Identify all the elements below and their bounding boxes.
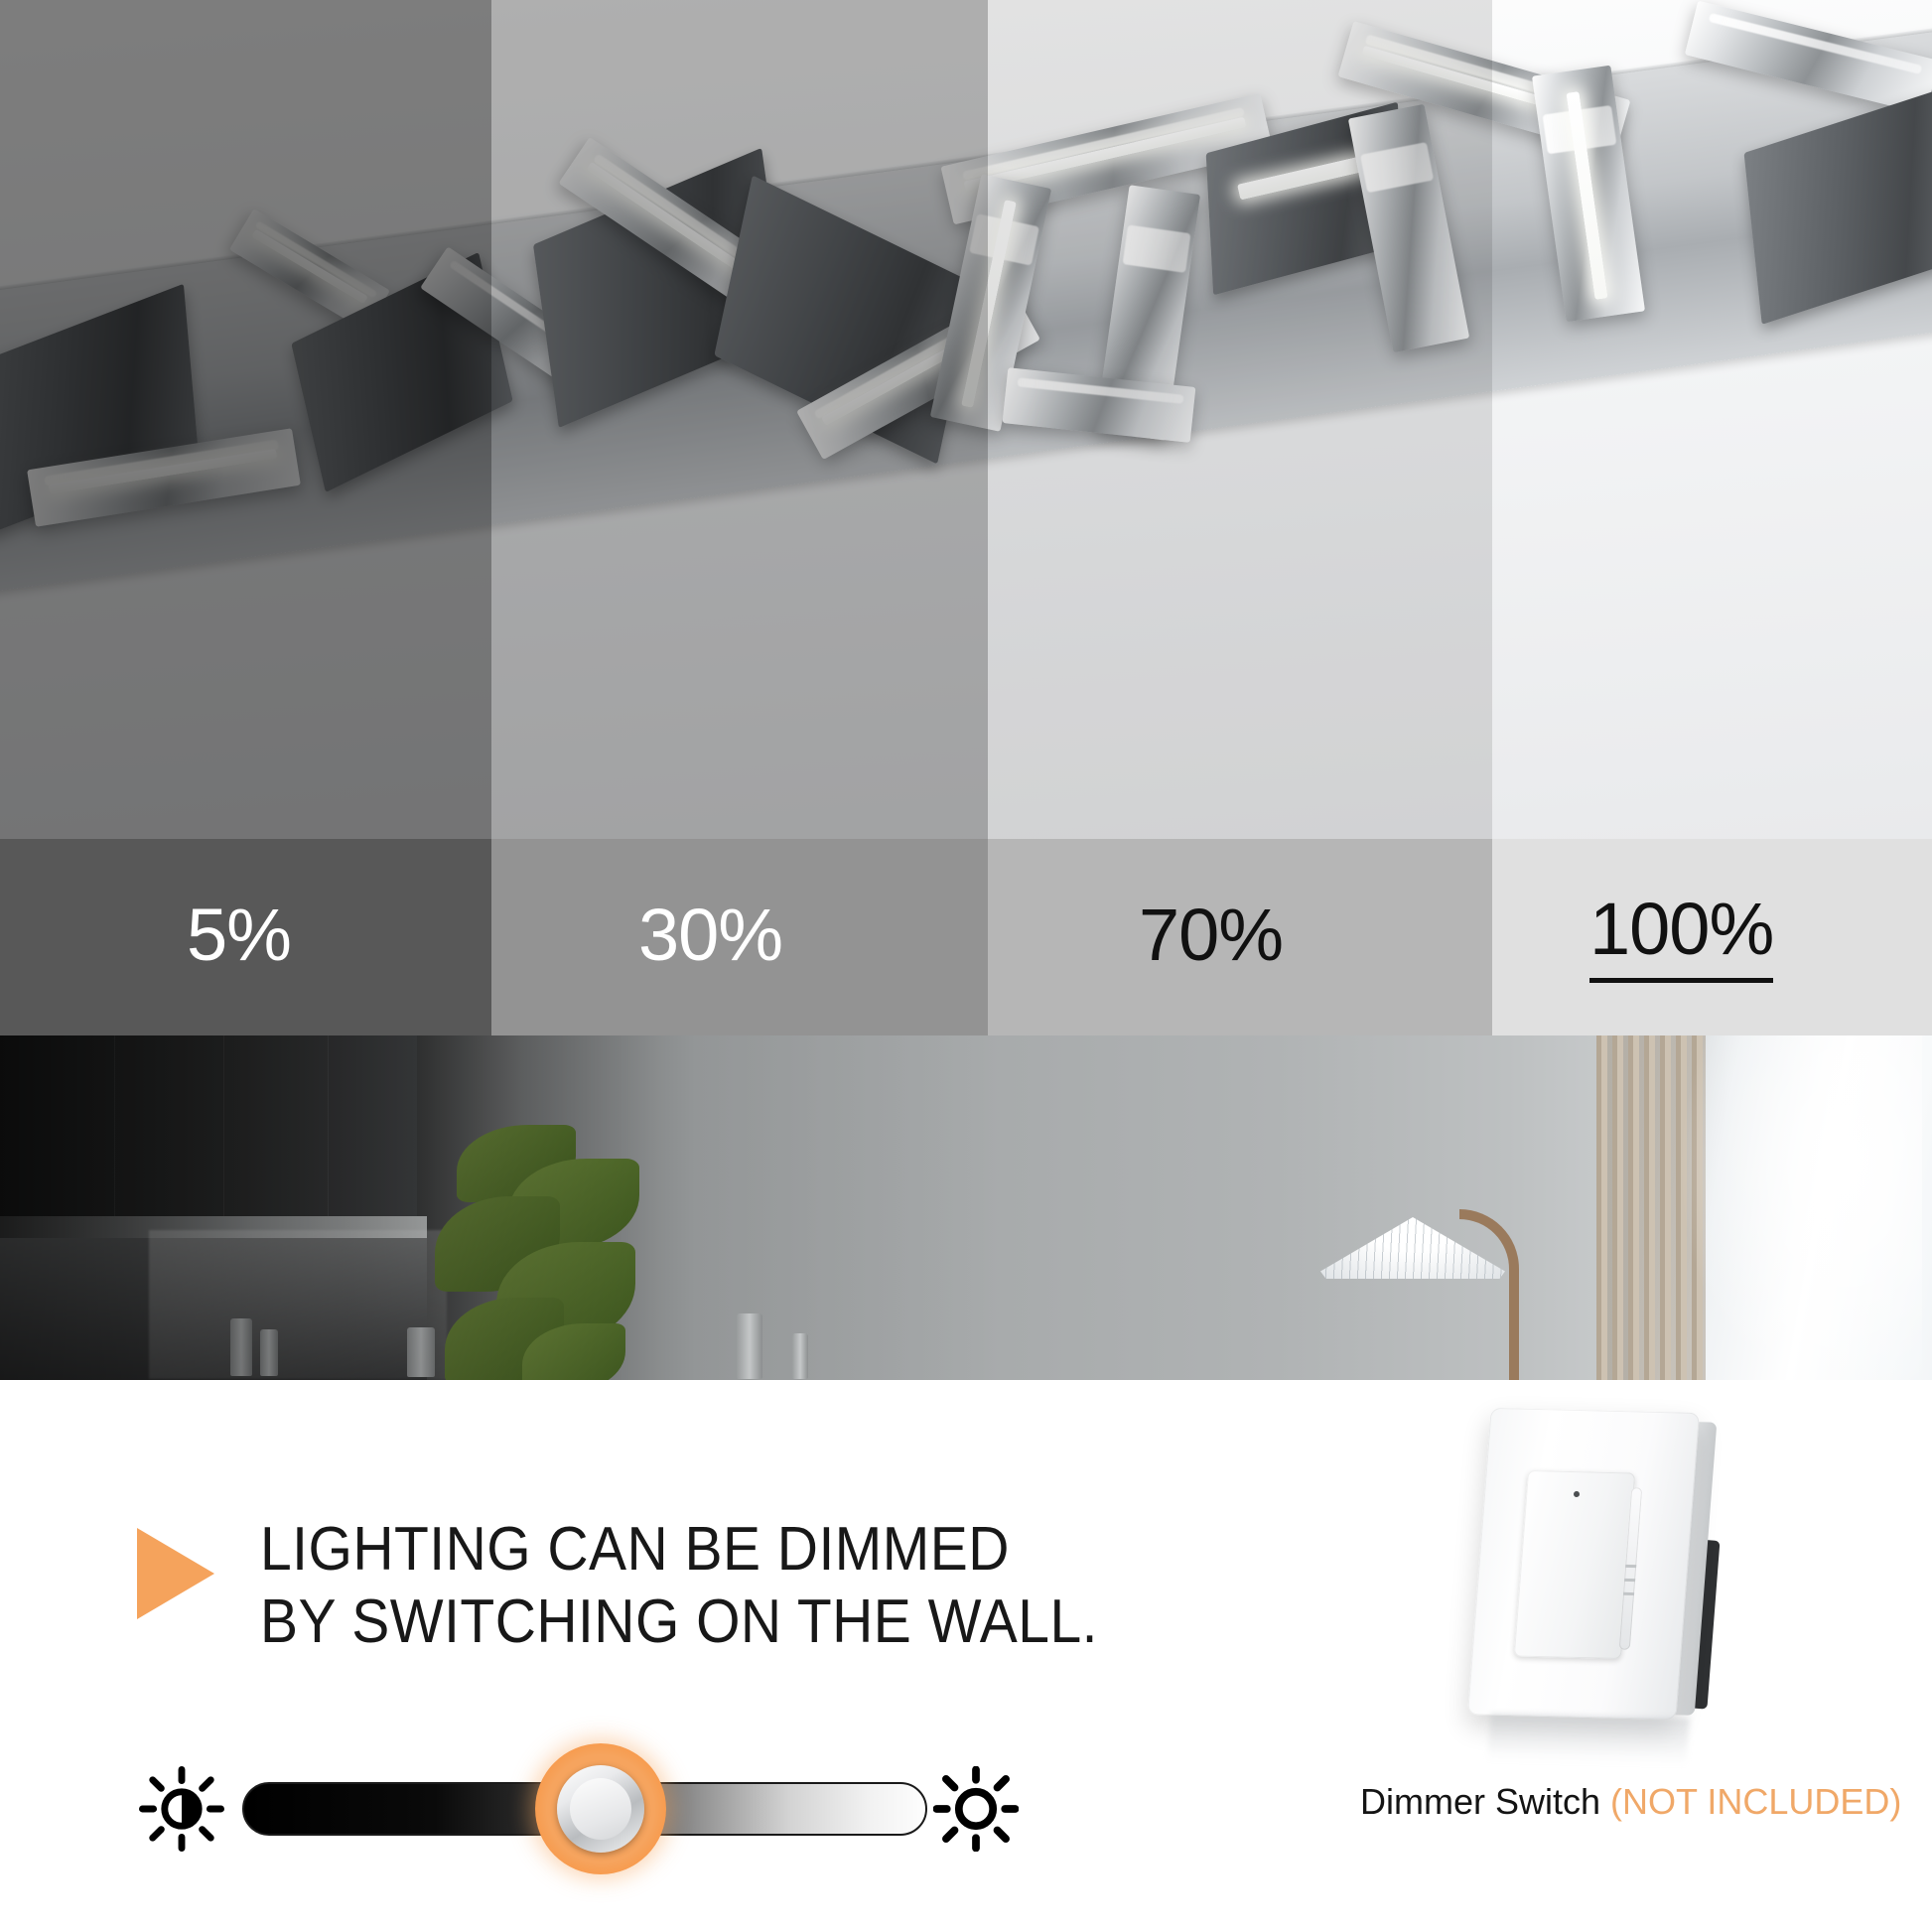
switch-rocker-paddle[interactable] (1514, 1470, 1636, 1659)
dim-overlay-100 (1492, 0, 1932, 839)
feature-callout-panel: LIGHTING CAN BE DIMMED BY SWITCHING ON T… (0, 1380, 1932, 1932)
dimming-demo-photo (0, 0, 1932, 839)
dimmer-switch-photo (1449, 1400, 1847, 1757)
room-dim-gradient (0, 1035, 1932, 1380)
slider-knob-center (570, 1778, 631, 1840)
dim-overlay-5 (0, 0, 491, 839)
brightness-low-icon (139, 1766, 224, 1852)
product-caption-note: (NOT INCLUDED) (1600, 1781, 1901, 1822)
callout-heading: LIGHTING CAN BE DIMMED BY SWITCHING ON T… (137, 1514, 1171, 1658)
slider-knob-ring (557, 1765, 644, 1853)
dim-overlay-70 (988, 0, 1492, 839)
living-room-photo (0, 1035, 1932, 1380)
callout-line-1: LIGHTING CAN BE DIMMED (260, 1514, 1098, 1587)
brightness-level-legend: 5% 30% 70% 100% (0, 839, 1932, 1035)
dim-overlay-30 (491, 0, 988, 839)
level-label-70: 70% (1139, 898, 1283, 976)
level-label-5: 5% (187, 898, 291, 976)
play-triangle-icon (137, 1528, 214, 1619)
switch-reflection (1487, 1714, 1690, 1766)
level-cell-30: 30% (491, 839, 988, 1035)
slider-knob[interactable] (535, 1743, 666, 1874)
product-infographic: 5% 30% 70% 100% (0, 0, 1932, 1932)
level-cell-70: 70% (988, 839, 1492, 1035)
dim-overlay-bands (0, 0, 1932, 839)
level-cell-5: 5% (0, 839, 491, 1035)
level-cell-100: 100% (1492, 839, 1932, 1035)
level-label-30: 30% (638, 898, 782, 976)
brightness-slider[interactable] (139, 1749, 1033, 1868)
level-label-100: 100% (1589, 893, 1773, 983)
product-caption: Dimmer Switch (NOT INCLUDED) (1360, 1781, 1901, 1823)
callout-line-2: BY SWITCHING ON THE WALL. (260, 1587, 1098, 1659)
product-caption-name: Dimmer Switch (1360, 1781, 1600, 1822)
callout-text: LIGHTING CAN BE DIMMED BY SWITCHING ON T… (260, 1514, 1098, 1658)
brightness-high-icon (933, 1766, 1019, 1852)
